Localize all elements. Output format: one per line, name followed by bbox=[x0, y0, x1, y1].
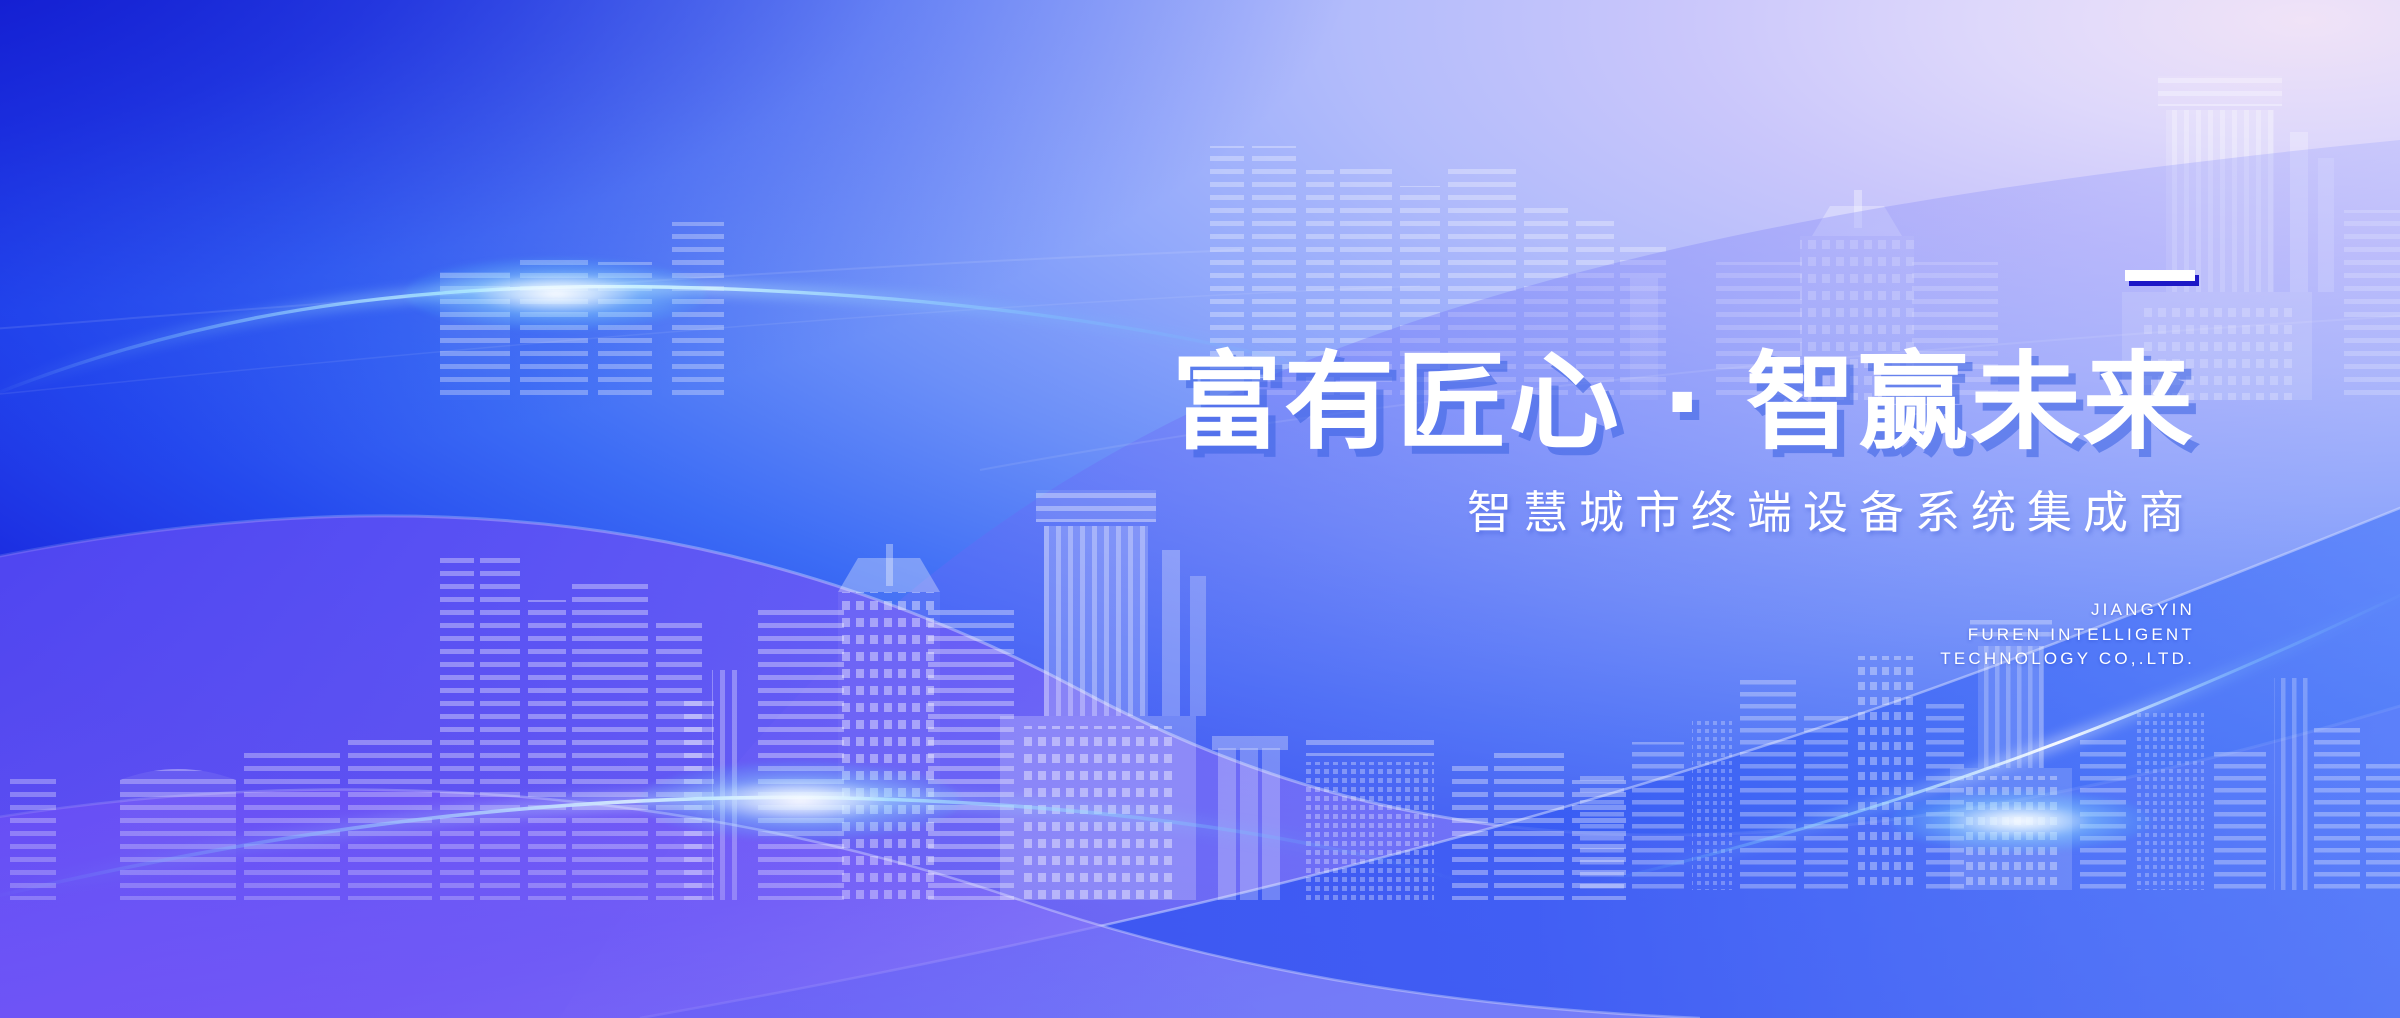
company-line-3: TECHNOLOGY CO,.LTD. bbox=[1015, 647, 2195, 672]
company-name-en: JIANGYIN FUREN INTELLIGENT TECHNOLOGY CO… bbox=[1015, 598, 2195, 672]
page-subtitle: 智慧城市终端设备系统集成商 bbox=[1015, 486, 2195, 540]
page-title: 富有匠心 · 智赢未来 bbox=[968, 350, 2195, 456]
dash-rule-icon bbox=[2125, 270, 2195, 281]
company-line-1: JIANGYIN bbox=[1015, 598, 2195, 623]
glow-hotspot-upper bbox=[406, 258, 706, 330]
glow-hotspot-lower bbox=[640, 762, 960, 840]
glow-hotspot-right bbox=[1890, 790, 2150, 852]
banner-canvas: 富有匠心 · 智赢未来 智慧城市终端设备系统集成商 JIANGYIN FUREN… bbox=[0, 0, 2400, 1018]
company-line-2: FUREN INTELLIGENT bbox=[1015, 623, 2195, 648]
headline-group: 富有匠心 · 智赢未来 智慧城市终端设备系统集成商 JIANGYIN FUREN… bbox=[1015, 270, 2195, 672]
